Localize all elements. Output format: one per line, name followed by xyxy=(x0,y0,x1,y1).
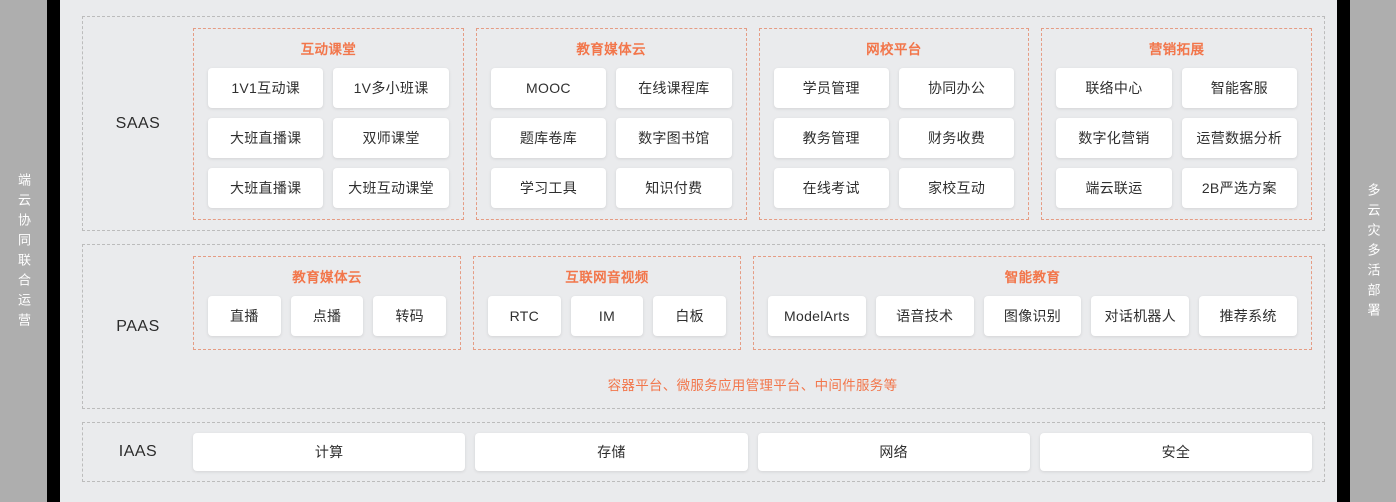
group-title: 互动课堂 xyxy=(301,38,357,58)
service-card[interactable]: 在线考试 xyxy=(774,168,889,208)
service-card[interactable]: 协同办公 xyxy=(899,68,1014,108)
layer-saas-label: SAAS xyxy=(83,17,193,230)
service-card[interactable]: 存储 xyxy=(475,433,747,471)
service-card[interactable]: 直播 xyxy=(208,296,281,336)
service-card[interactable]: 大班互动课堂 xyxy=(333,168,448,208)
group-title: 网校平台 xyxy=(866,38,922,58)
card-row: 直播 点播 转码 xyxy=(208,296,446,336)
group-title: 教育媒体云 xyxy=(292,266,362,286)
left-rail-label: 端云协同联合运营 xyxy=(17,169,30,333)
right-rail-label: 多云灾多活部署 xyxy=(1367,179,1380,323)
group-title: 营销拓展 xyxy=(1149,38,1205,58)
card-grid: 学员管理 协同办公 教务管理 财务收费 在线考试 家校互动 xyxy=(774,68,1015,208)
service-card[interactable]: 白板 xyxy=(653,296,726,336)
paas-groups-row: 教育媒体云 直播 点播 转码 互联网音视频 RTC IM 白板 xyxy=(193,245,1324,350)
service-card[interactable]: 双师课堂 xyxy=(333,118,448,158)
layer-paas-body: 教育媒体云 直播 点播 转码 互联网音视频 RTC IM 白板 xyxy=(193,245,1324,408)
service-card[interactable]: 教务管理 xyxy=(774,118,889,158)
service-card[interactable]: RTC xyxy=(488,296,561,336)
service-card[interactable]: 知识付费 xyxy=(616,168,731,208)
group-title: 智能教育 xyxy=(1005,266,1061,286)
service-card[interactable]: 大班直播课 xyxy=(208,118,323,158)
card-grid: 联络中心 智能客服 数字化营销 运营数据分析 端云联运 2B严选方案 xyxy=(1056,68,1297,208)
right-divider xyxy=(1337,0,1350,502)
service-card[interactable]: 图像识别 xyxy=(984,296,1082,336)
service-card[interactable]: 财务收费 xyxy=(899,118,1014,158)
layer-paas: PAAS 教育媒体云 直播 点播 转码 互联网音视频 RTC xyxy=(82,244,1325,409)
group-paas-education-media-cloud: 教育媒体云 直播 点播 转码 xyxy=(193,256,461,350)
card-grid: 1V1互动课 1V多小班课 大班直播课 双师课堂 大班直播课 大班互动课堂 xyxy=(208,68,449,208)
card-row: RTC IM 白板 xyxy=(488,296,726,336)
group-intelligent-education: 智能教育 ModelArts 语音技术 图像识别 对话机器人 推荐系统 xyxy=(753,256,1312,350)
service-card[interactable]: 学员管理 xyxy=(774,68,889,108)
service-card[interactable]: 智能客服 xyxy=(1182,68,1297,108)
service-card[interactable]: 数字化营销 xyxy=(1056,118,1171,158)
service-card[interactable]: 计算 xyxy=(193,433,465,471)
service-card[interactable]: 1V1互动课 xyxy=(208,68,323,108)
service-card[interactable]: 点播 xyxy=(291,296,364,336)
group-interactive-classroom: 互动课堂 1V1互动课 1V多小班课 大班直播课 双师课堂 大班直播课 大班互动… xyxy=(193,28,464,220)
service-card[interactable]: 语音技术 xyxy=(876,296,974,336)
layer-iaas-body: 计算 存储 网络 安全 xyxy=(193,423,1324,481)
right-rail: 多云灾多活部署 xyxy=(1350,0,1396,502)
group-education-media-cloud: 教育媒体云 MOOC 在线课程库 题库卷库 数字图书馆 学习工具 知识付费 xyxy=(476,28,747,220)
layer-paas-label: PAAS xyxy=(83,245,193,408)
service-card[interactable]: 对话机器人 xyxy=(1091,296,1189,336)
group-title: 教育媒体云 xyxy=(576,38,646,58)
service-card[interactable]: 家校互动 xyxy=(899,168,1014,208)
group-online-school-platform: 网校平台 学员管理 协同办公 教务管理 财务收费 在线考试 家校互动 xyxy=(759,28,1030,220)
paas-footnote: 容器平台、微服务应用管理平台、中间件服务等 xyxy=(193,350,1324,394)
service-card[interactable]: 运营数据分析 xyxy=(1182,118,1297,158)
service-card[interactable]: 题库卷库 xyxy=(491,118,606,158)
layers-container: SAAS 互动课堂 1V1互动课 1V多小班课 大班直播课 双师课堂 大班直播课… xyxy=(60,0,1337,502)
layer-iaas-label: IAAS xyxy=(83,423,193,481)
layer-saas-body: 互动课堂 1V1互动课 1V多小班课 大班直播课 双师课堂 大班直播课 大班互动… xyxy=(193,17,1324,230)
service-card[interactable]: IM xyxy=(571,296,644,336)
layer-iaas: IAAS 计算 存储 网络 安全 xyxy=(82,422,1325,482)
card-row: ModelArts 语音技术 图像识别 对话机器人 推荐系统 xyxy=(768,296,1297,336)
service-card[interactable]: 学习工具 xyxy=(491,168,606,208)
service-card[interactable]: ModelArts xyxy=(768,296,866,336)
service-card[interactable]: 在线课程库 xyxy=(616,68,731,108)
service-card[interactable]: 转码 xyxy=(373,296,446,336)
service-card[interactable]: 推荐系统 xyxy=(1199,296,1297,336)
service-card[interactable]: 1V多小班课 xyxy=(333,68,448,108)
card-grid: MOOC 在线课程库 题库卷库 数字图书馆 学习工具 知识付费 xyxy=(491,68,732,208)
service-card[interactable]: 数字图书馆 xyxy=(616,118,731,158)
service-card[interactable]: MOOC xyxy=(491,68,606,108)
architecture-diagram: 端云协同联合运营 SAAS 互动课堂 1V1互动课 1V多小班课 大班直播课 双… xyxy=(0,0,1396,502)
service-card[interactable]: 2B严选方案 xyxy=(1182,168,1297,208)
left-divider xyxy=(47,0,60,502)
service-card[interactable]: 大班直播课 xyxy=(208,168,323,208)
group-marketing-expansion: 营销拓展 联络中心 智能客服 数字化营销 运营数据分析 端云联运 2B严选方案 xyxy=(1041,28,1312,220)
layer-saas: SAAS 互动课堂 1V1互动课 1V多小班课 大班直播课 双师课堂 大班直播课… xyxy=(82,16,1325,231)
service-card[interactable]: 联络中心 xyxy=(1056,68,1171,108)
service-card[interactable]: 网络 xyxy=(758,433,1030,471)
service-card[interactable]: 端云联运 xyxy=(1056,168,1171,208)
group-title: 互联网音视频 xyxy=(565,266,648,286)
group-internet-audio-video: 互联网音视频 RTC IM 白板 xyxy=(473,256,741,350)
left-rail: 端云协同联合运营 xyxy=(0,0,47,502)
service-card[interactable]: 安全 xyxy=(1040,433,1312,471)
